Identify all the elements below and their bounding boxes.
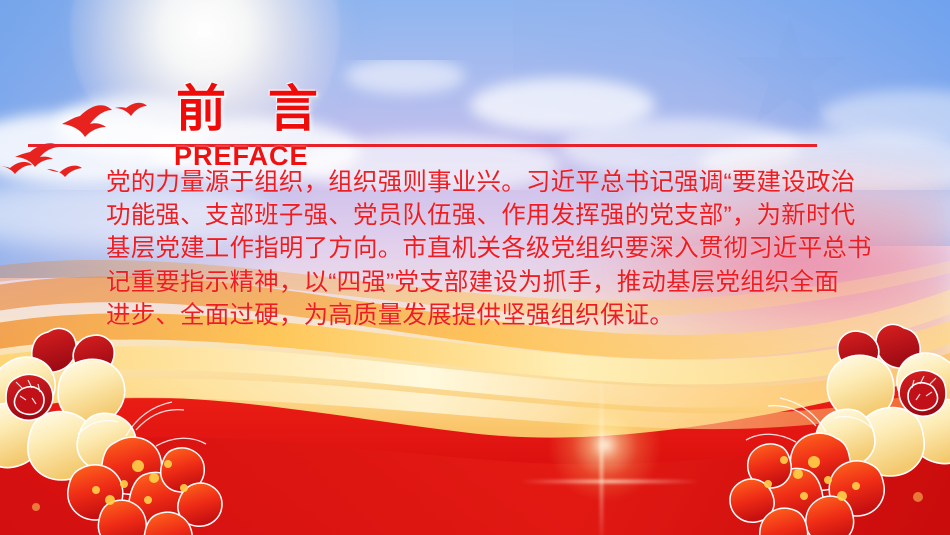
body-line: 进步、全面过硬，为高质量发展提供坚强组织保证。 — [106, 299, 896, 332]
light-flare-icon — [540, 380, 670, 510]
preface-body-text: 党的力量源于组织，组织强则事业兴。习近平总书记强调“要建设政治 功能强、支部班子… — [106, 166, 896, 332]
peony-flower-cluster-right — [687, 318, 950, 535]
title-divider-rule — [28, 144, 817, 147]
body-line: 记重要指示精神，以“四强”党支部建设为抓手，推动基层党组织全面 — [106, 266, 896, 299]
flare-streak-vertical — [600, 370, 603, 535]
flare-streak-horizontal — [520, 480, 700, 483]
page-title-chinese: 前 言 — [176, 84, 332, 134]
body-line: 功能强、支部班子强、党员队伍强、作用发挥强的党支部”，为新时代 — [106, 199, 896, 232]
peony-flower-cluster-left — [0, 318, 266, 535]
body-line: 基层党建工作指明了方向。市直机关各级党组织要深入贯彻习近平总书 — [106, 232, 896, 265]
preface-slide: 前 言 PREFACE 党的力量源于组织，组织强则事业兴。习近平总书记强调“要建… — [0, 0, 950, 535]
body-line: 党的力量源于组织，组织强则事业兴。习近平总书记强调“要建设政治 — [106, 166, 896, 199]
